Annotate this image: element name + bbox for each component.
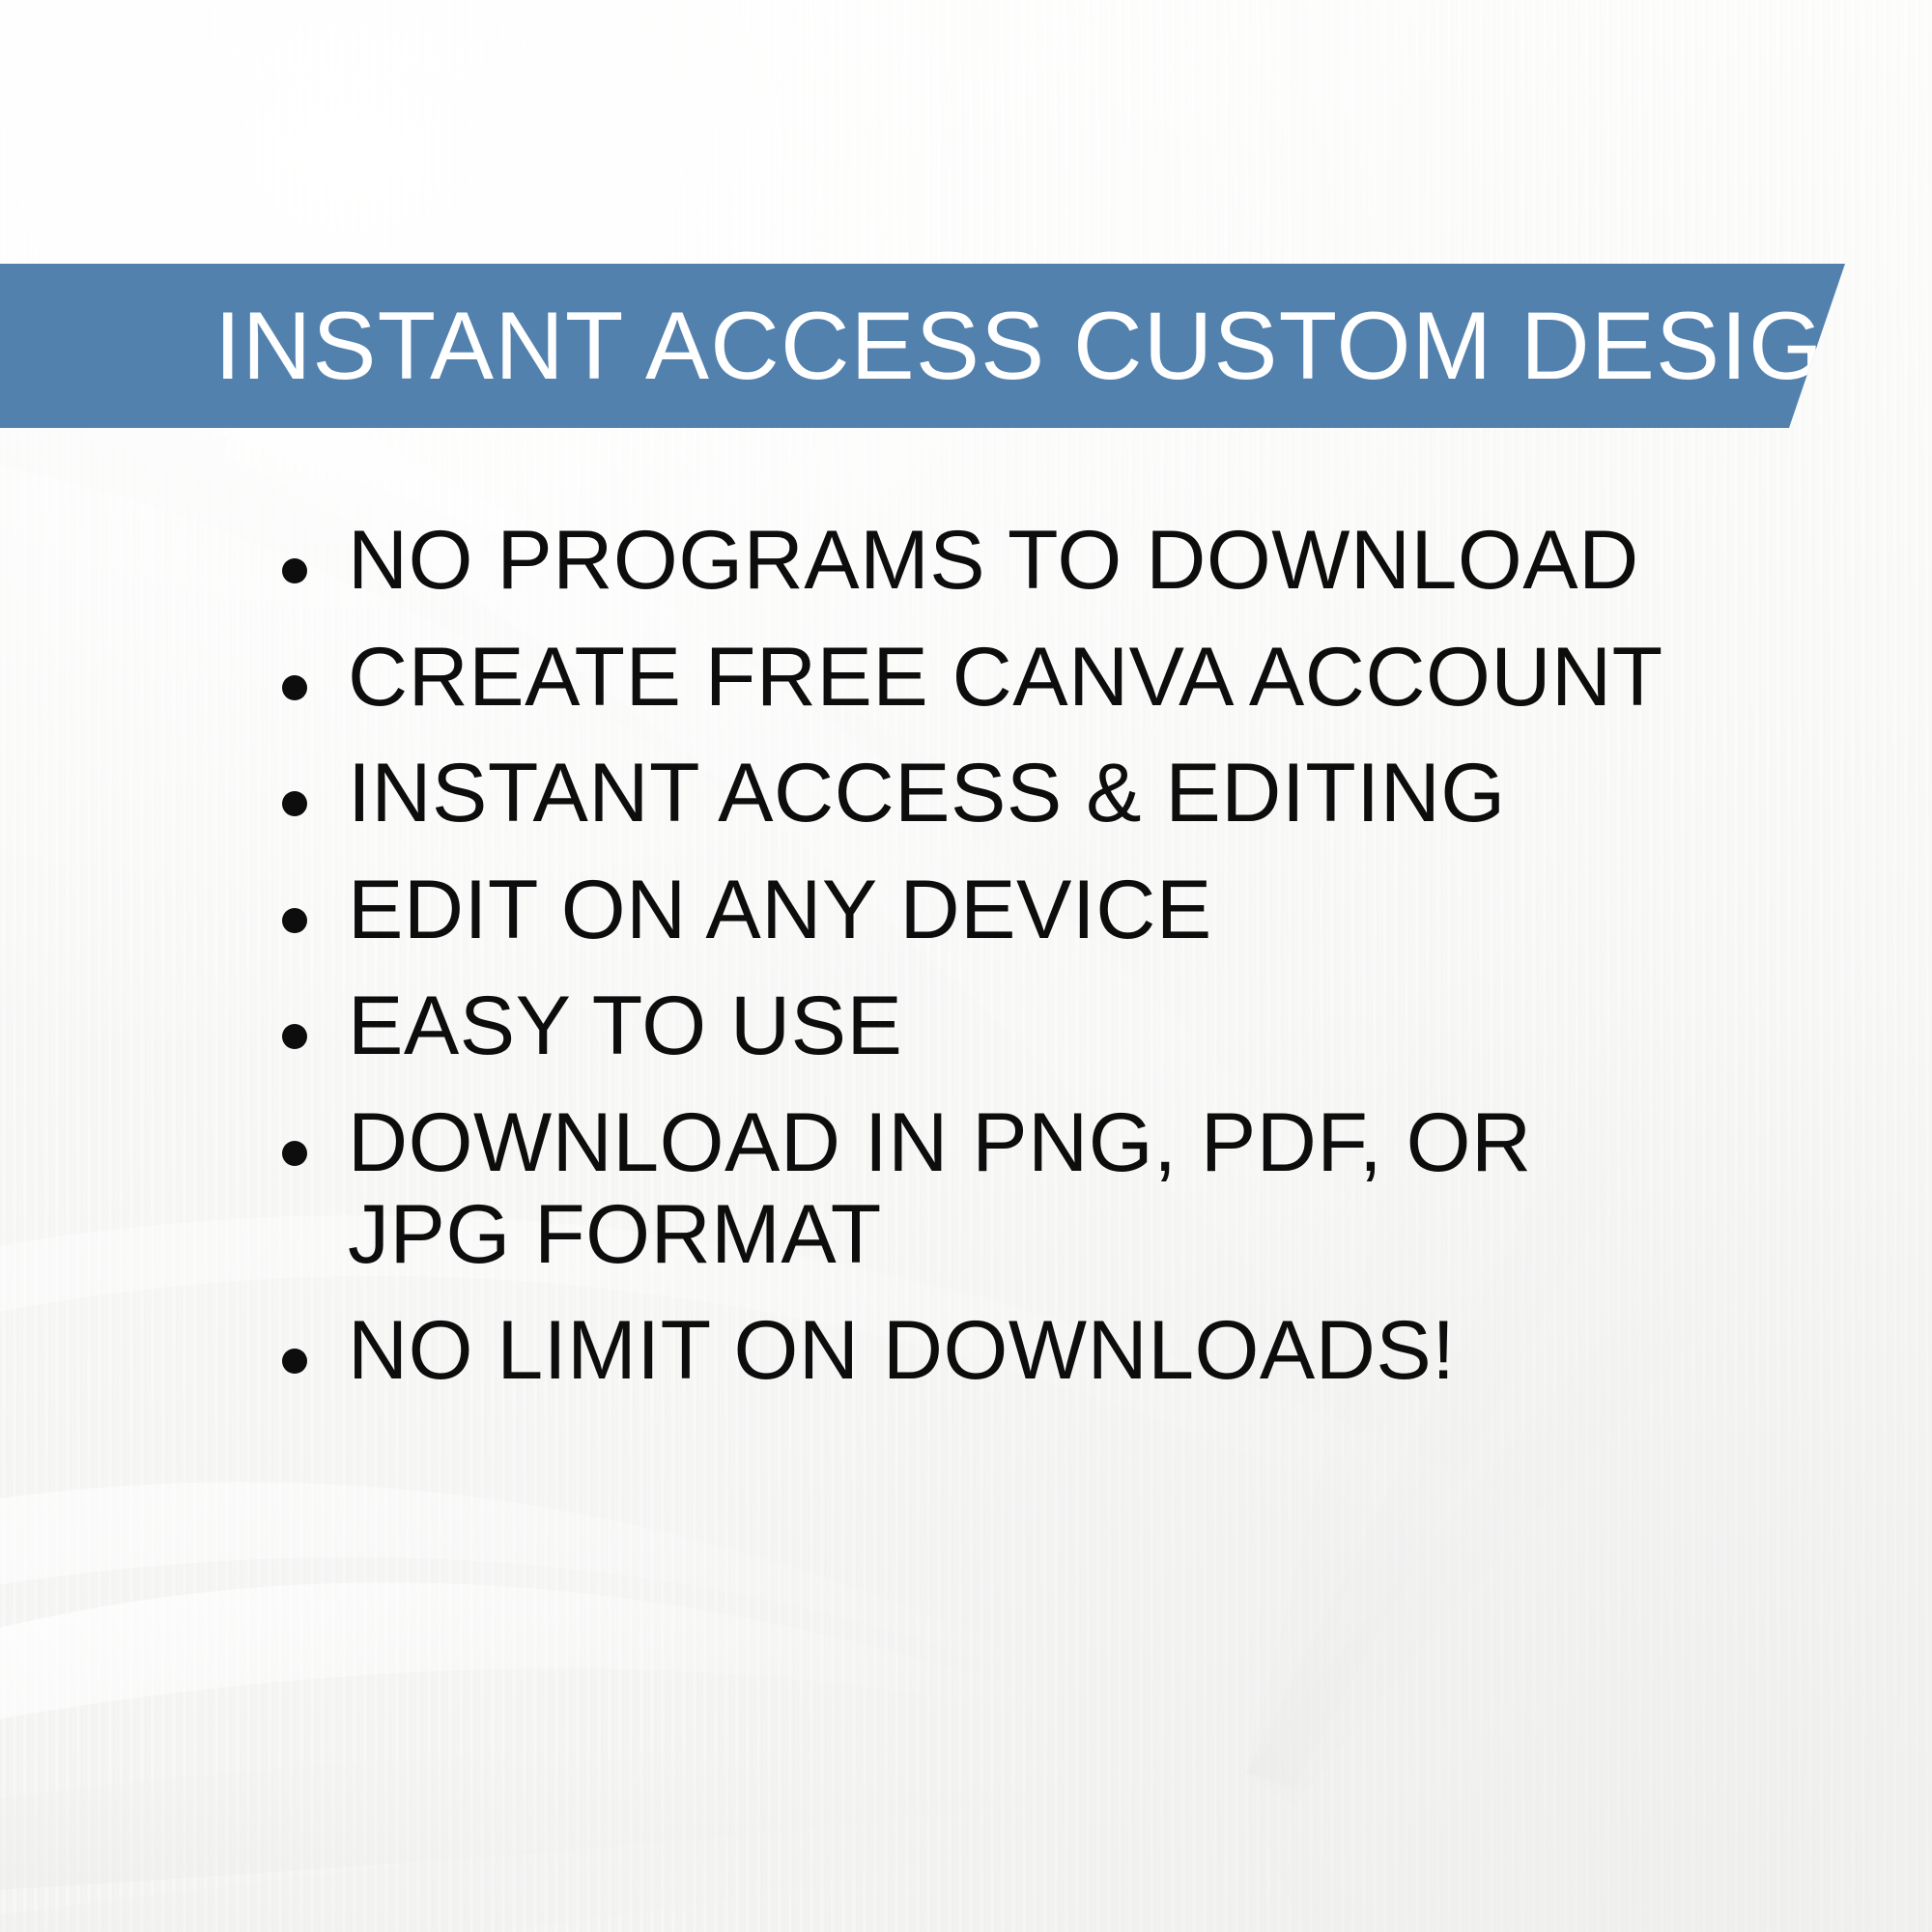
feature-label: DOWNLOAD IN PNG, PDF, OR JPG FORMAT xyxy=(348,1097,1683,1280)
list-item: CREATE FREE CANVA ACCOUNT xyxy=(282,632,1683,724)
feature-label: NO LIMIT ON DOWNLOADS! xyxy=(348,1305,1683,1397)
bullet-dot-icon xyxy=(282,1024,307,1049)
bullet-dot-icon xyxy=(282,558,307,583)
list-item: INSTANT ACCESS & EDITING xyxy=(282,748,1683,839)
feature-label: EASY TO USE xyxy=(348,980,1683,1072)
list-item: EASY TO USE xyxy=(282,980,1683,1072)
feature-label: EDIT ON ANY DEVICE xyxy=(348,865,1683,956)
bullet-dot-icon xyxy=(282,1349,307,1374)
list-item: EDIT ON ANY DEVICE xyxy=(282,865,1683,956)
feature-label: NO PROGRAMS TO DOWNLOAD xyxy=(348,515,1683,607)
list-item: NO PROGRAMS TO DOWNLOAD xyxy=(282,515,1683,607)
bullet-dot-icon xyxy=(282,908,307,933)
promo-graphic-canvas: INSTANT ACCESS CUSTOM DESIGNS NO PROGRAM… xyxy=(0,0,1932,1932)
feature-label: INSTANT ACCESS & EDITING xyxy=(348,748,1683,839)
bullet-dot-icon xyxy=(282,675,307,700)
page-title: INSTANT ACCESS CUSTOM DESIGNS xyxy=(0,298,1932,393)
bullet-dot-icon xyxy=(282,791,307,816)
list-item: DOWNLOAD IN PNG, PDF, OR JPG FORMAT xyxy=(282,1097,1683,1280)
feature-label: CREATE FREE CANVA ACCOUNT xyxy=(348,632,1683,724)
header-banner: INSTANT ACCESS CUSTOM DESIGNS xyxy=(0,264,1845,428)
bullet-dot-icon xyxy=(282,1141,307,1166)
feature-list: NO PROGRAMS TO DOWNLOAD CREATE FREE CANV… xyxy=(282,515,1683,1397)
list-item: NO LIMIT ON DOWNLOADS! xyxy=(282,1305,1683,1397)
